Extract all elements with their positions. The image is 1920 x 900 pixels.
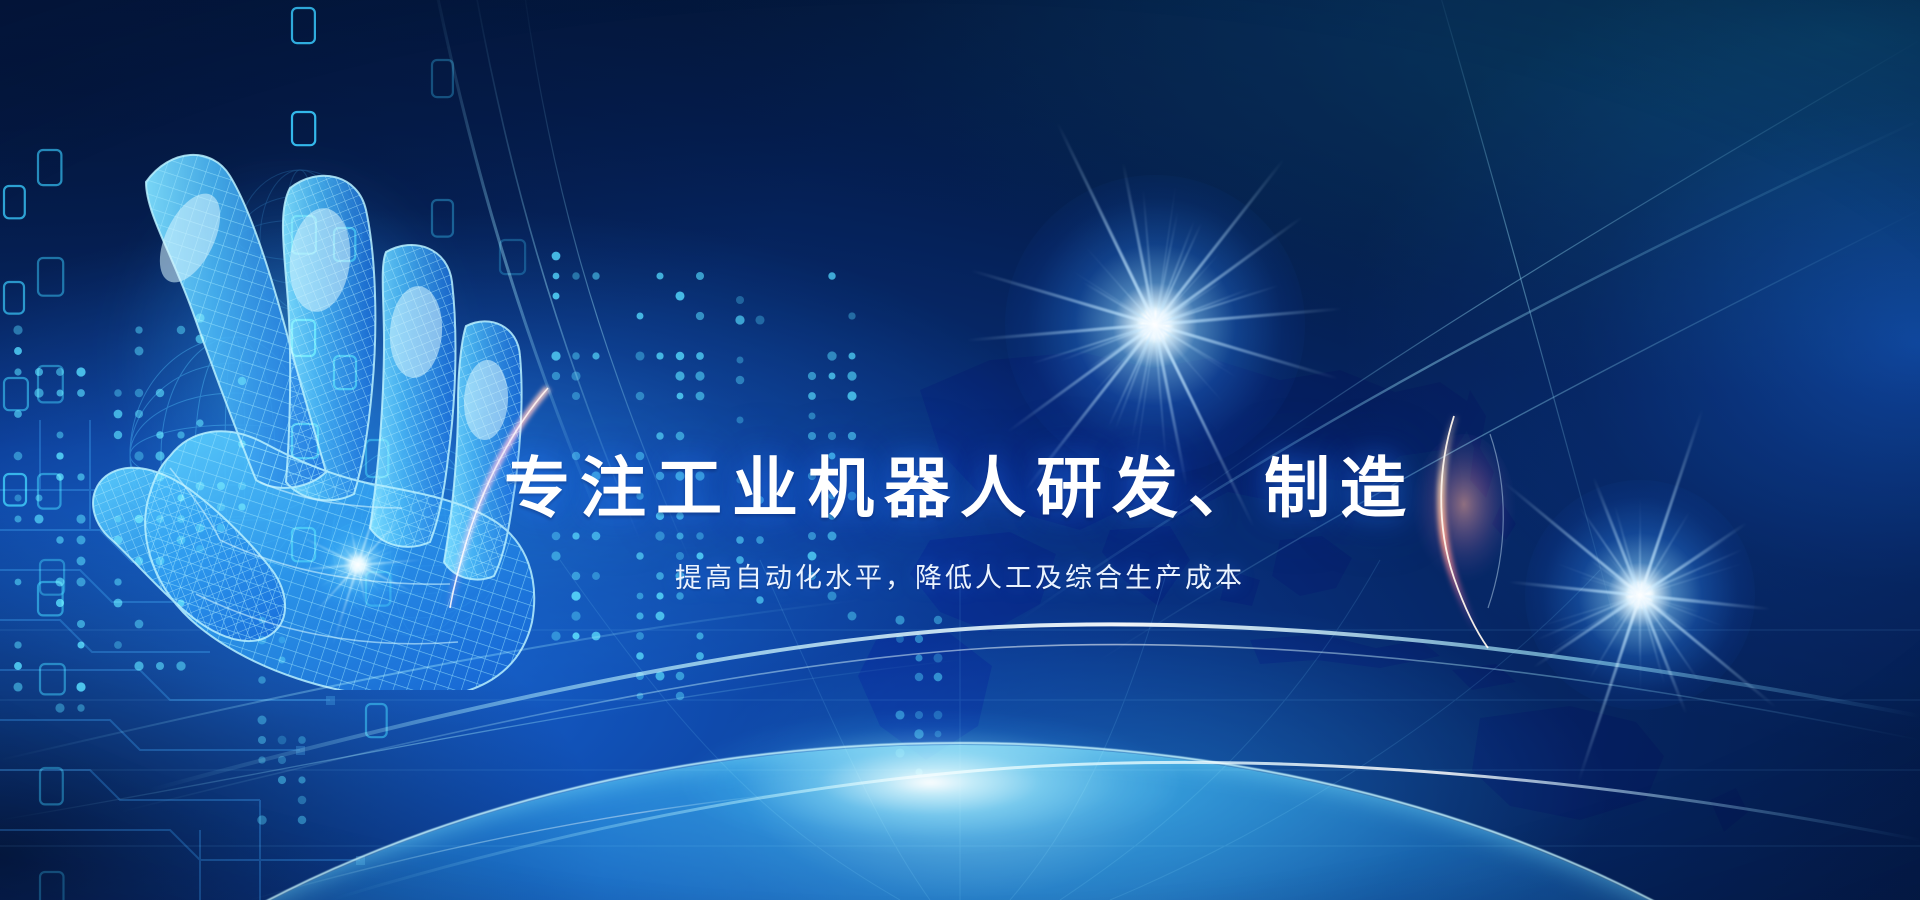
earth-horizon-hotspot <box>620 678 1240 858</box>
page-subtitle: 提高自动化水平，降低人工及综合生产成本 <box>0 556 1920 595</box>
page-title: 专注工业机器人研发、制造 <box>0 452 1920 526</box>
hero-text-block: 专注工业机器人研发、制造 提高自动化水平，降低人工及综合生产成本 <box>0 452 1920 595</box>
hero-banner: 专注工业机器人研发、制造 提高自动化水平，降低人工及综合生产成本 <box>0 0 1920 900</box>
